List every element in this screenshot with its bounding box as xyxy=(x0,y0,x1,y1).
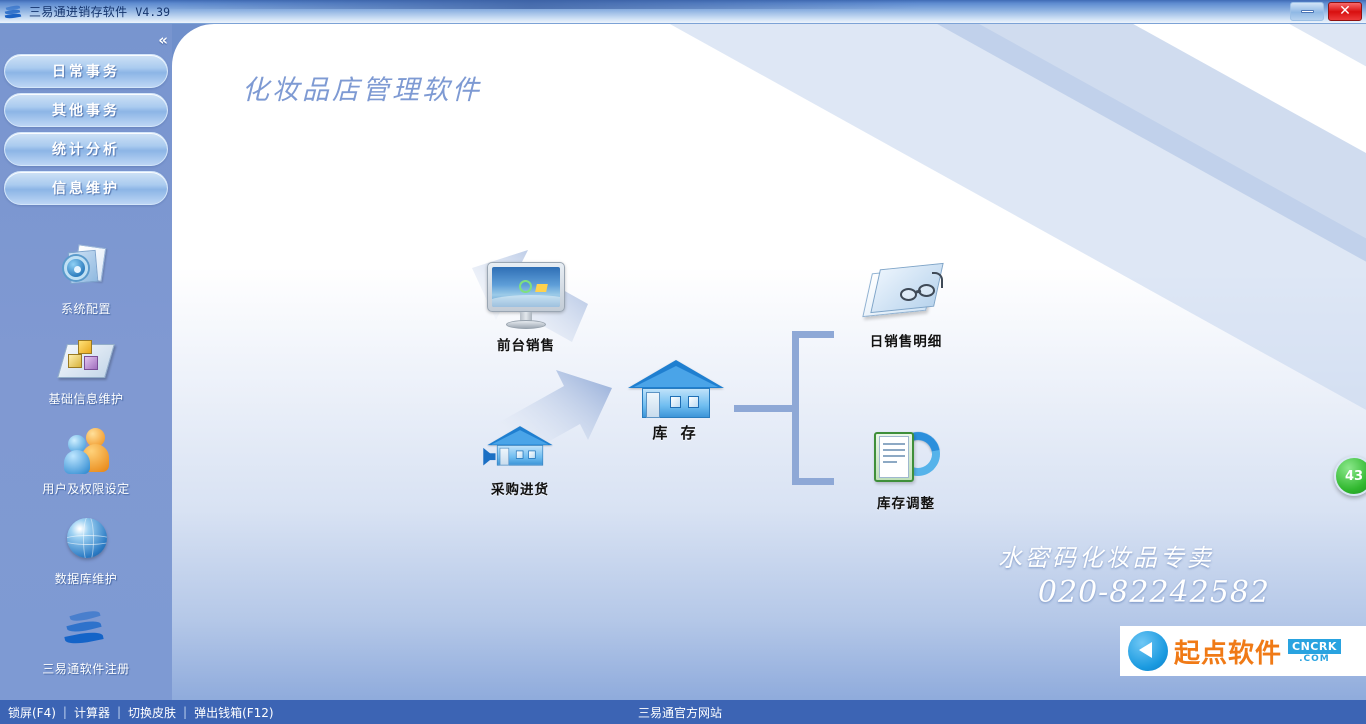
sidebar-item-other-affairs[interactable]: 其他事务 xyxy=(4,93,168,127)
window-version: V4.39 xyxy=(135,5,170,19)
sidebar-item-label: 信息维护 xyxy=(52,178,120,198)
node-label: 日销售明细 xyxy=(838,330,974,350)
watermark-domain: CNCRK .COM xyxy=(1288,639,1341,664)
node-purchase[interactable]: 采购进货 xyxy=(452,422,588,498)
sidebar-item-label: 日常事务 xyxy=(52,61,120,81)
nav-user-permissions[interactable]: 用户及权限设定 xyxy=(0,422,172,512)
collapse-sidebar-icon[interactable]: « xyxy=(158,31,166,49)
calculator-action[interactable]: 计算器 xyxy=(74,704,110,721)
switch-skin-action[interactable]: 切换皮肤 xyxy=(128,704,176,721)
nav-label: 三易通软件注册 xyxy=(42,660,130,677)
separator: | xyxy=(183,705,187,719)
content-area: 化妆品店管理软件 xyxy=(172,24,1366,700)
status-bar-actions: 锁屏(F4) | 计算器 | 切换皮肤 | 弹出钱箱(F12) xyxy=(8,704,274,721)
node-label: 库 存 xyxy=(608,422,744,443)
window-controls: ✕ xyxy=(1290,2,1362,21)
shop-name: 水密码化妆品专卖 xyxy=(998,538,1270,573)
separator: | xyxy=(63,705,67,719)
cubes-icon xyxy=(58,332,114,388)
open-cash-drawer-action[interactable]: 弹出钱箱(F12) xyxy=(194,704,274,721)
separator: | xyxy=(117,705,121,719)
watermark-domain-top: CNCRK xyxy=(1288,639,1341,654)
nav-database-maintenance[interactable]: 数据库维护 xyxy=(0,512,172,602)
sidebar-item-daily-affairs[interactable]: 日常事务 xyxy=(4,54,168,88)
official-website-link[interactable]: 三易通官方网站 xyxy=(638,704,722,721)
nav-label: 基础信息维护 xyxy=(48,390,123,407)
status-bar: 锁屏(F4) | 计算器 | 切换皮肤 | 弹出钱箱(F12) 三易通官方网站 xyxy=(0,700,1366,724)
minimize-button[interactable] xyxy=(1290,2,1324,21)
node-daily-sales-detail[interactable]: 日销售明细 xyxy=(838,264,974,350)
sidebar-item-info-maintenance[interactable]: 信息维护 xyxy=(4,171,168,205)
site-watermark: 起点软件 CNCRK .COM xyxy=(1120,626,1366,676)
status-badge[interactable]: 43 xyxy=(1334,456,1366,496)
house-icon xyxy=(628,354,724,424)
title-bar: 三易通进销存软件 V4.39 ✕ xyxy=(0,0,1366,24)
sidebar-menu: 日常事务 其他事务 统计分析 信息维护 xyxy=(4,54,168,210)
nav-system-config[interactable]: 系统配置 xyxy=(0,242,172,332)
node-front-sales[interactable]: 前台销售 xyxy=(458,262,594,354)
nav-label: 用户及权限设定 xyxy=(42,480,130,497)
cncrk-logo-icon xyxy=(1128,631,1168,671)
watermark-brand: 起点软件 xyxy=(1174,633,1282,670)
node-stock-adjust[interactable]: 库存调整 xyxy=(838,426,974,512)
application-window: 三易通进销存软件 V4.39 ✕ « 日常事务 其他事务 统计分析 信息维护 xyxy=(0,0,1366,724)
window-title: 三易通进销存软件 xyxy=(29,3,127,20)
watermark-domain-bottom: .COM xyxy=(1288,654,1341,664)
clipboard-refresh-icon xyxy=(866,426,946,488)
title-bar-highlight xyxy=(140,0,920,9)
nav-label: 系统配置 xyxy=(61,300,111,317)
globe-icon xyxy=(58,512,114,568)
nav-basic-info[interactable]: 基础信息维护 xyxy=(0,332,172,422)
node-label: 库存调整 xyxy=(838,492,974,512)
minimize-icon xyxy=(1301,10,1314,13)
book-glasses-icon xyxy=(866,264,946,326)
node-label: 采购进货 xyxy=(452,478,588,498)
sidebar-item-label: 其他事务 xyxy=(52,100,120,120)
node-stock[interactable]: 库 存 xyxy=(608,354,744,443)
users-icon xyxy=(58,422,114,478)
sidebar: « 日常事务 其他事务 统计分析 信息维护 系统配置 xyxy=(0,24,172,700)
house-inbound-icon xyxy=(487,422,552,470)
lock-screen-action[interactable]: 锁屏(F4) xyxy=(8,704,56,721)
node-label: 前台销售 xyxy=(458,334,594,354)
sidebar-item-label: 统计分析 xyxy=(52,139,120,159)
swoosh-logo-icon xyxy=(4,3,24,21)
nav-software-registration[interactable]: 三易通软件注册 xyxy=(0,602,172,692)
shop-phone: 020-82242582 xyxy=(1038,575,1270,610)
gear-document-icon xyxy=(58,242,114,298)
sidebar-item-statistics[interactable]: 统计分析 xyxy=(4,132,168,166)
shop-watermark: 水密码化妆品专卖 020-82242582 xyxy=(998,538,1270,610)
close-button[interactable]: ✕ xyxy=(1328,2,1362,21)
nav-label: 数据库维护 xyxy=(55,570,118,587)
swoosh-logo-icon xyxy=(58,602,114,658)
sidebar-nav-icons: 系统配置 基础信息维护 用户及权限设定 数据库维护 xyxy=(0,242,172,692)
monitor-icon xyxy=(487,262,565,330)
